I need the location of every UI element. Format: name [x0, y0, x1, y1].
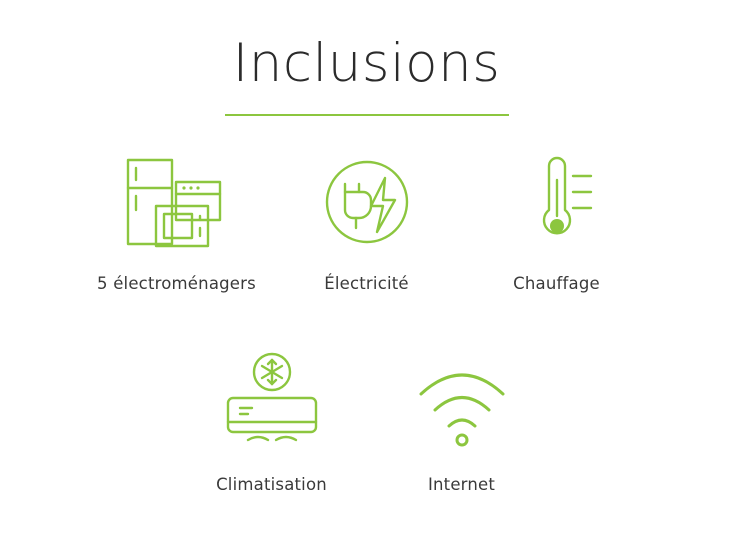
inclusion-item-air-conditioning: Climatisation	[177, 351, 367, 494]
electricity-plug-icon	[315, 150, 419, 258]
wifi-icon	[407, 351, 517, 459]
title-underline-divider	[225, 114, 509, 116]
page-title: Inclusions	[0, 36, 733, 92]
inclusion-label: Internet	[428, 475, 495, 494]
inclusion-label: 5 électroménagers	[97, 274, 256, 293]
inclusion-item-appliances: 5 électroménagers	[82, 150, 272, 293]
inclusion-item-electricity: Électricité	[272, 150, 462, 293]
inclusion-item-internet: Internet	[367, 351, 557, 494]
inclusions-row-2: Climatisation Internet	[0, 351, 733, 494]
inclusion-item-heating: Chauffage	[462, 150, 652, 293]
inclusion-label: Électricité	[324, 274, 409, 293]
inclusion-label: Chauffage	[513, 274, 600, 293]
inclusions-row-1: 5 électroménagers Électric	[0, 150, 733, 293]
inclusion-label: Climatisation	[216, 475, 327, 494]
inclusions-grid: 5 électroménagers Électric	[0, 150, 733, 494]
title-block: Inclusions	[0, 36, 733, 116]
air-conditioner-icon	[214, 351, 330, 459]
appliances-icon	[118, 150, 236, 258]
inclusions-slide: Inclusions	[0, 0, 733, 550]
thermometer-heating-icon	[505, 150, 609, 258]
